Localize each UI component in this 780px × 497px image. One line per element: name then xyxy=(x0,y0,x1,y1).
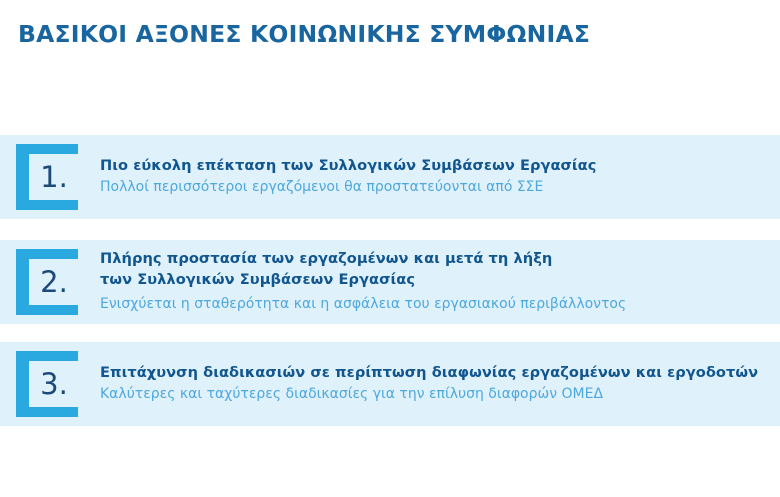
number-badge-1: 1. xyxy=(16,144,78,210)
card-heading-line: Πλήρης προστασία των εργαζομένων και μετ… xyxy=(100,249,772,270)
card-heading-1: Πιο εύκολη επέκταση των Συλλογικών Συμβά… xyxy=(100,156,772,177)
card-item-1: 1. Πιο εύκολη επέκταση των Συλλογικών Συ… xyxy=(0,135,780,219)
card-text-2: Πλήρης προστασία των εργαζομένων και μετ… xyxy=(100,249,780,314)
card-item-2: 2. Πλήρης προστασία των εργαζομένων και … xyxy=(0,240,780,324)
card-number-label: 2. xyxy=(16,249,78,315)
card-text-1: Πιο εύκολη επέκταση των Συλλογικών Συμβά… xyxy=(100,156,780,199)
number-badge-2: 2. xyxy=(16,249,78,315)
number-badge-3: 3. xyxy=(16,351,78,417)
card-number-label: 1. xyxy=(16,144,78,210)
card-subtitle-1: Πολλοί περισσότεροι εργαζόμενοι θα προστ… xyxy=(100,177,772,198)
card-heading-line: Πιο εύκολη επέκταση των Συλλογικών Συμβά… xyxy=(100,156,772,177)
card-number-label: 3. xyxy=(16,351,78,417)
card-subtitle-2: Ενισχύεται η σταθερότητα και η ασφάλεια … xyxy=(100,294,772,315)
page-title: ΒΑΣΙΚΟΙ ΑΞΟΝΕΣ ΚΟΙΝΩΝΙΚΗΣ ΣΥΜΦΩΝΙΑΣ xyxy=(18,21,590,48)
card-list: 1. Πιο εύκολη επέκταση των Συλλογικών Συ… xyxy=(0,135,780,426)
card-subtitle-3: Καλύτερες και ταχύτερες διαδικασίες για … xyxy=(100,384,772,405)
card-heading-line: των Συλλογικών Συμβάσεων Εργασίας xyxy=(100,270,772,291)
card-heading-line: Επιτάχυνση διαδικασιών σε περίπτωση διαφ… xyxy=(100,363,772,384)
card-heading-2: Πλήρης προστασία των εργαζομένων και μετ… xyxy=(100,249,772,290)
card-item-3: 3. Επιτάχυνση διαδικασιών σε περίπτωση δ… xyxy=(0,342,780,426)
card-text-3: Επιτάχυνση διαδικασιών σε περίπτωση διαφ… xyxy=(100,363,780,406)
card-heading-3: Επιτάχυνση διαδικασιών σε περίπτωση διαφ… xyxy=(100,363,772,384)
infographic-page: ΒΑΣΙΚΟΙ ΑΞΟΝΕΣ ΚΟΙΝΩΝΙΚΗΣ ΣΥΜΦΩΝΙΑΣ 1. Π… xyxy=(0,0,780,497)
